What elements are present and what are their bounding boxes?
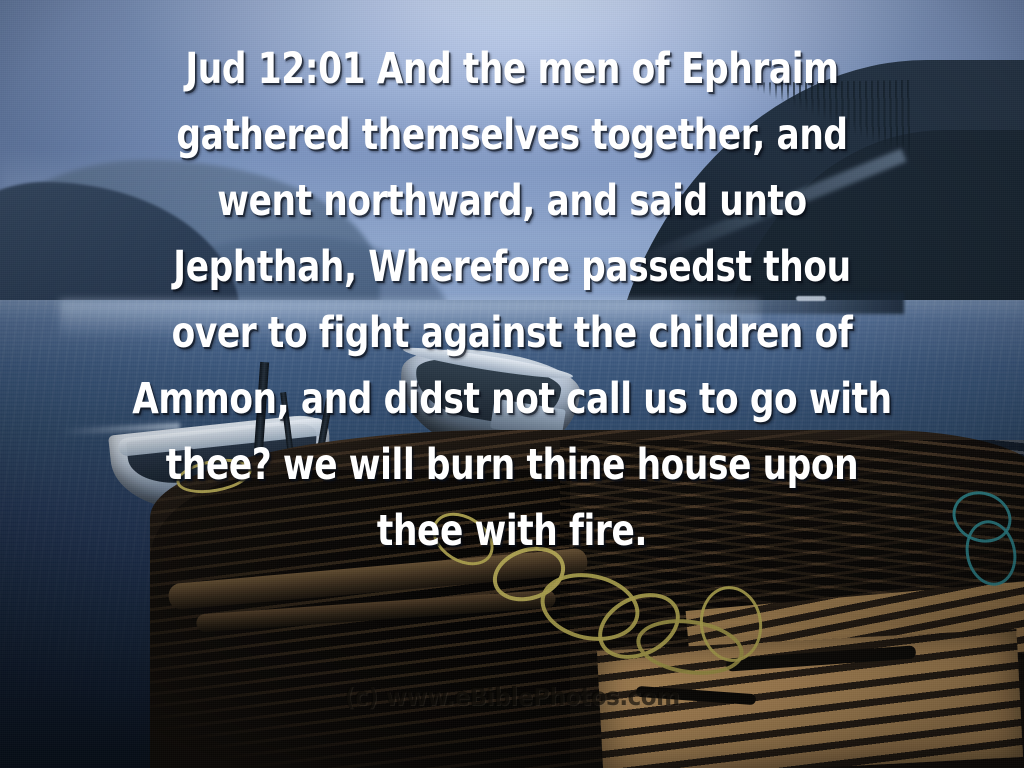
verse-text: Jud 12:01 And the men of Ephraim gathere… [102,36,921,564]
bible-verse-image: (c) www.eBiblePhotos.com Jud 12:01 And t… [0,0,1024,768]
